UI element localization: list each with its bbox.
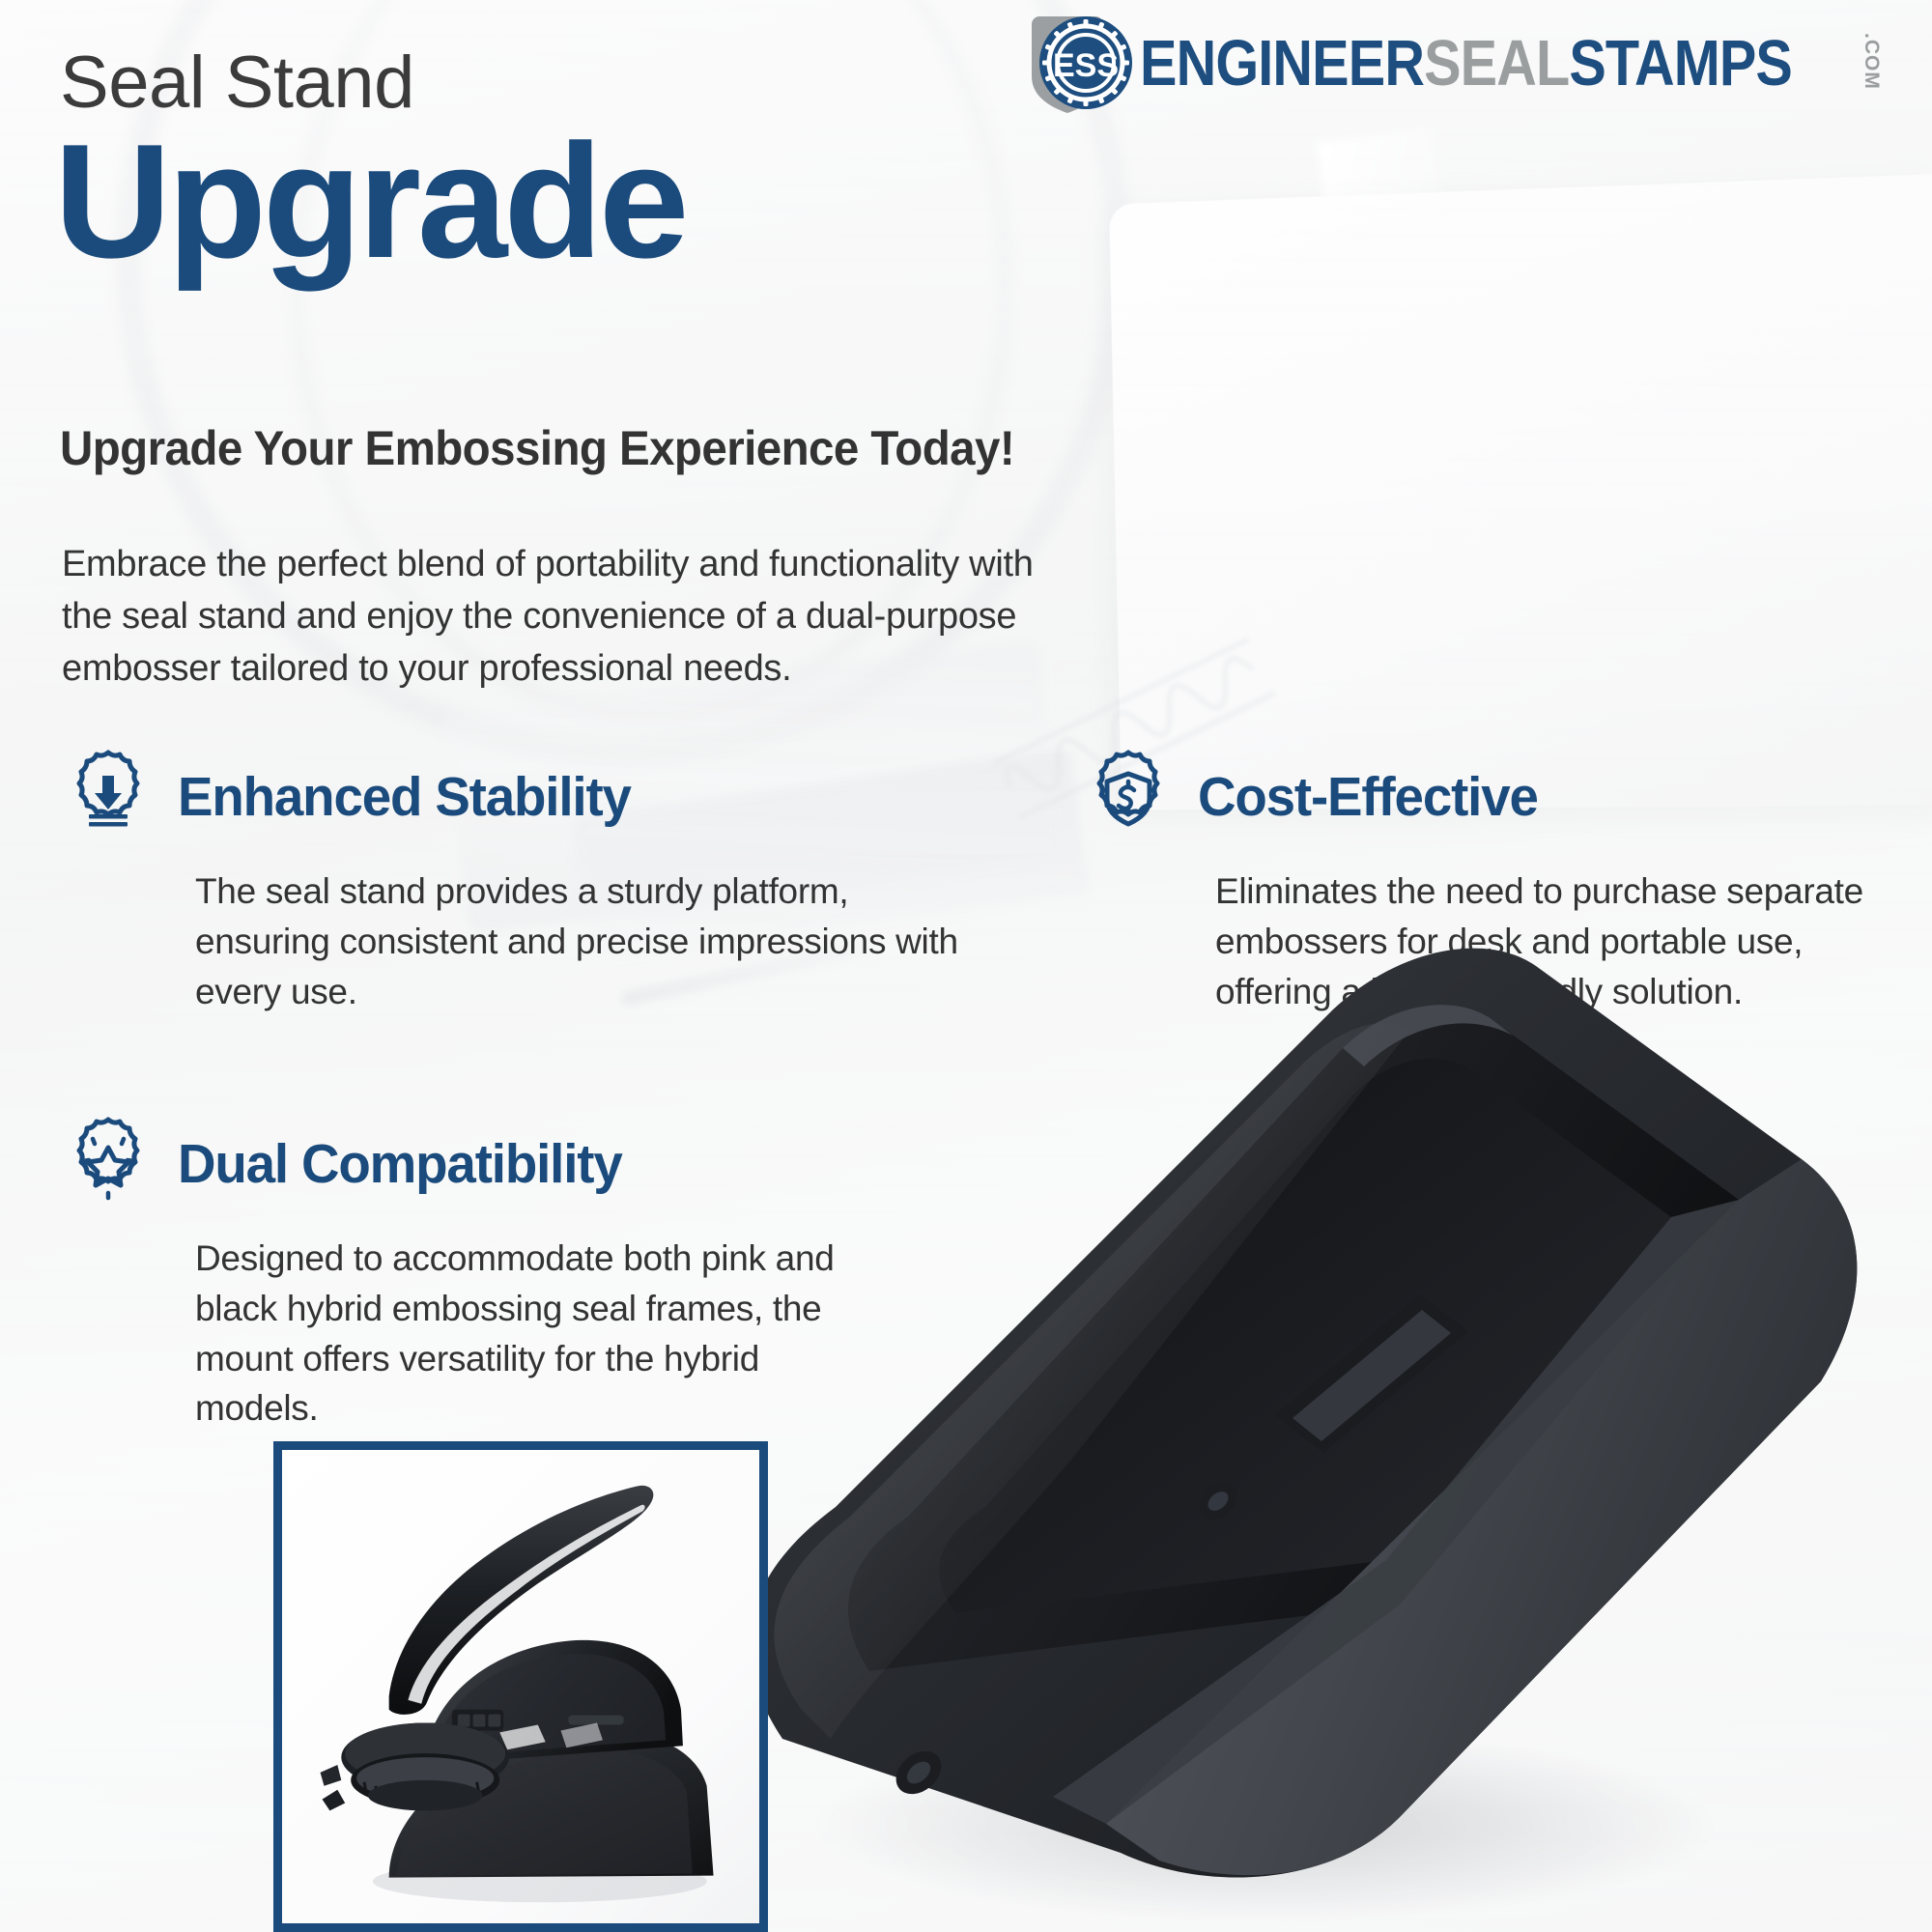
wordmark-dotcom: .COM <box>1861 33 1882 93</box>
wordmark-stamps: STAMPS <box>1569 27 1792 99</box>
feature-title: Cost-Effective <box>1198 765 1538 829</box>
stand-screw-bosses <box>888 1476 1244 1804</box>
seal-badge-shield-dollar-icon <box>1080 749 1177 845</box>
brand-wordmark: ENGINEERSEALSTAMPS .COM <box>1140 31 1918 96</box>
infographic-page: ESS ENGINEERSEALSTAMPS .COM Seal Stand U… <box>0 0 1932 1932</box>
page-intro-paragraph: Embrace the perfect blend of portability… <box>62 539 1047 696</box>
handheld-embosser-on-seal-stand-illustration <box>282 1450 759 1923</box>
feature-title: Enhanced Stability <box>178 765 631 829</box>
ess-monogram: ESS <box>1053 47 1119 84</box>
seal-badge-sparkle-star-icon <box>60 1116 156 1212</box>
wordmark-engineer: ENGINEER <box>1140 27 1424 99</box>
page-title: Upgrade <box>54 116 685 286</box>
stand-side-panel <box>1106 1159 1857 1875</box>
feature-description: The seal stand provides a sturdy platfor… <box>195 867 968 1016</box>
feature-description: Designed to accommodate both pink and bl… <box>195 1234 862 1434</box>
stand-stripe <box>1053 1200 1739 1824</box>
content-layer: ESS ENGINEERSEALSTAMPS .COM Seal Stand U… <box>0 0 1932 1932</box>
stand-retention-clip <box>1275 1294 1468 1453</box>
inset-product-image <box>273 1441 768 1932</box>
wordmark-seal: SEAL <box>1424 27 1569 99</box>
ess-gear-shield-icon: ESS <box>1026 9 1134 117</box>
feature-dual-compatibility: Dual Compatibility Designed to accommoda… <box>60 1116 978 1434</box>
feature-description: Eliminates the need to purchase separate… <box>1215 867 1911 1016</box>
stand-cavity-inner <box>939 1059 1671 1613</box>
feature-heading-row: Cost-Effective <box>1080 749 1920 845</box>
page-subtitle: Upgrade Your Embossing Experience Today! <box>60 420 1014 476</box>
brand-logo[interactable]: ESS ENGINEERSEALSTAMPS .COM <box>1026 10 1918 116</box>
feature-cost-effective: Cost-Effective Eliminates the need to pu… <box>1080 749 1920 1016</box>
feature-enhanced-stability: Enhanced Stability The seal stand provid… <box>60 749 978 1016</box>
seal-badge-download-icon <box>60 749 156 845</box>
feature-title: Dual Compatibility <box>178 1132 622 1196</box>
feature-heading-row: Enhanced Stability <box>60 749 978 845</box>
stand-cavity <box>848 1005 1739 1671</box>
feature-heading-row: Dual Compatibility <box>60 1116 978 1212</box>
